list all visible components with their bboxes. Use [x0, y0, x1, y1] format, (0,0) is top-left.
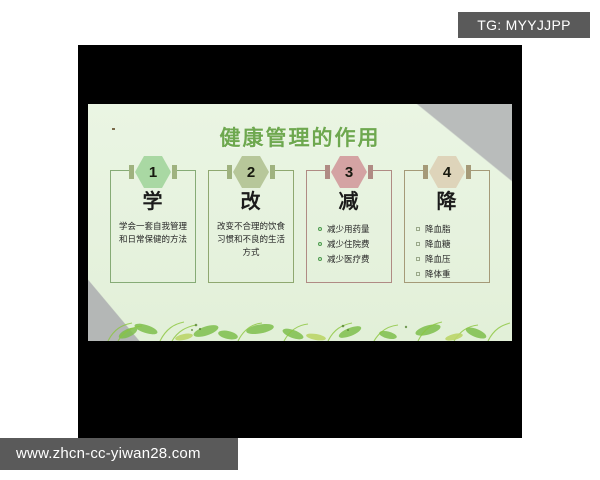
leaves-icon — [88, 311, 512, 341]
foliage-decoration — [88, 311, 512, 341]
hexagon-number-1: 1 — [135, 156, 171, 188]
card-3: 3 减 减少用药量 减少住院费 减少医疗费 — [306, 170, 392, 283]
hexagon-badge-1: 1 — [127, 156, 179, 188]
hexagon-number-2: 2 — [233, 156, 269, 188]
card-1: 1 学 学会一套自我管理和日常保健的方法 — [110, 170, 196, 283]
list-item: 减少医疗费 — [318, 252, 391, 267]
card-bullet-list-4: 降血脂 降血糖 降血压 降体重 — [405, 222, 489, 283]
connector-tab-left-3 — [325, 165, 330, 179]
video-player-frame[interactable]: 健康管理的作用 1 学 学会一套自我管理和日常保健的方法 — [78, 45, 522, 438]
hexagon-number-4: 4 — [429, 156, 465, 188]
slide-title: 健康管理的作用 — [88, 122, 512, 152]
card-4: 4 降 降血脂 降血糖 降血压 降体重 — [404, 170, 490, 283]
hexagon-number-3: 3 — [331, 156, 367, 188]
list-item: 降体重 — [416, 267, 489, 282]
hexagon-badge-2: 2 — [225, 156, 277, 188]
hexagon-badge-3: 3 — [323, 156, 375, 188]
list-item: 减少住院费 — [318, 237, 391, 252]
column-4: 4 降 降血脂 降血糖 降血压 降体重 — [404, 170, 490, 283]
site-watermark: www.zhcn-cc-yiwan28.com — [0, 438, 238, 470]
card-description-1: 学会一套自我管理和日常保健的方法 — [111, 220, 195, 246]
list-item: 降血压 — [416, 252, 489, 267]
card-2: 2 改 改变不合理的饮食习惯和不良的生活方式 — [208, 170, 294, 283]
connector-tab-left-1 — [129, 165, 134, 179]
card-bullet-list-3: 减少用药量 减少住院费 减少医疗费 — [307, 222, 391, 267]
list-item: 降血糖 — [416, 237, 489, 252]
connector-tab-right-2 — [270, 165, 275, 179]
card-headline-4: 降 — [405, 191, 489, 213]
card-headline-3: 减 — [307, 191, 391, 213]
connector-tab-right-4 — [466, 165, 471, 179]
column-2: 2 改 改变不合理的饮食习惯和不良的生活方式 — [208, 170, 294, 283]
slide-image: 健康管理的作用 1 学 学会一套自我管理和日常保健的方法 — [88, 104, 512, 341]
column-1: 1 学 学会一套自我管理和日常保健的方法 — [110, 170, 196, 283]
tg-handle-badge: TG: MYYJJPP — [458, 12, 590, 38]
columns-row: 1 学 学会一套自我管理和日常保健的方法 2 改 改变不合理的饮食习惯和不良的生… — [110, 170, 490, 283]
hexagon-badge-4: 4 — [421, 156, 473, 188]
connector-tab-right-3 — [368, 165, 373, 179]
card-headline-1: 学 — [111, 191, 195, 213]
list-item: 降血脂 — [416, 222, 489, 237]
card-headline-2: 改 — [209, 191, 293, 213]
column-3: 3 减 减少用药量 减少住院费 减少医疗费 — [306, 170, 392, 283]
connector-tab-right-1 — [172, 165, 177, 179]
connector-tab-left-4 — [423, 165, 428, 179]
card-description-2: 改变不合理的饮食习惯和不良的生活方式 — [209, 220, 293, 260]
connector-tab-left-2 — [227, 165, 232, 179]
list-item: 减少用药量 — [318, 222, 391, 237]
